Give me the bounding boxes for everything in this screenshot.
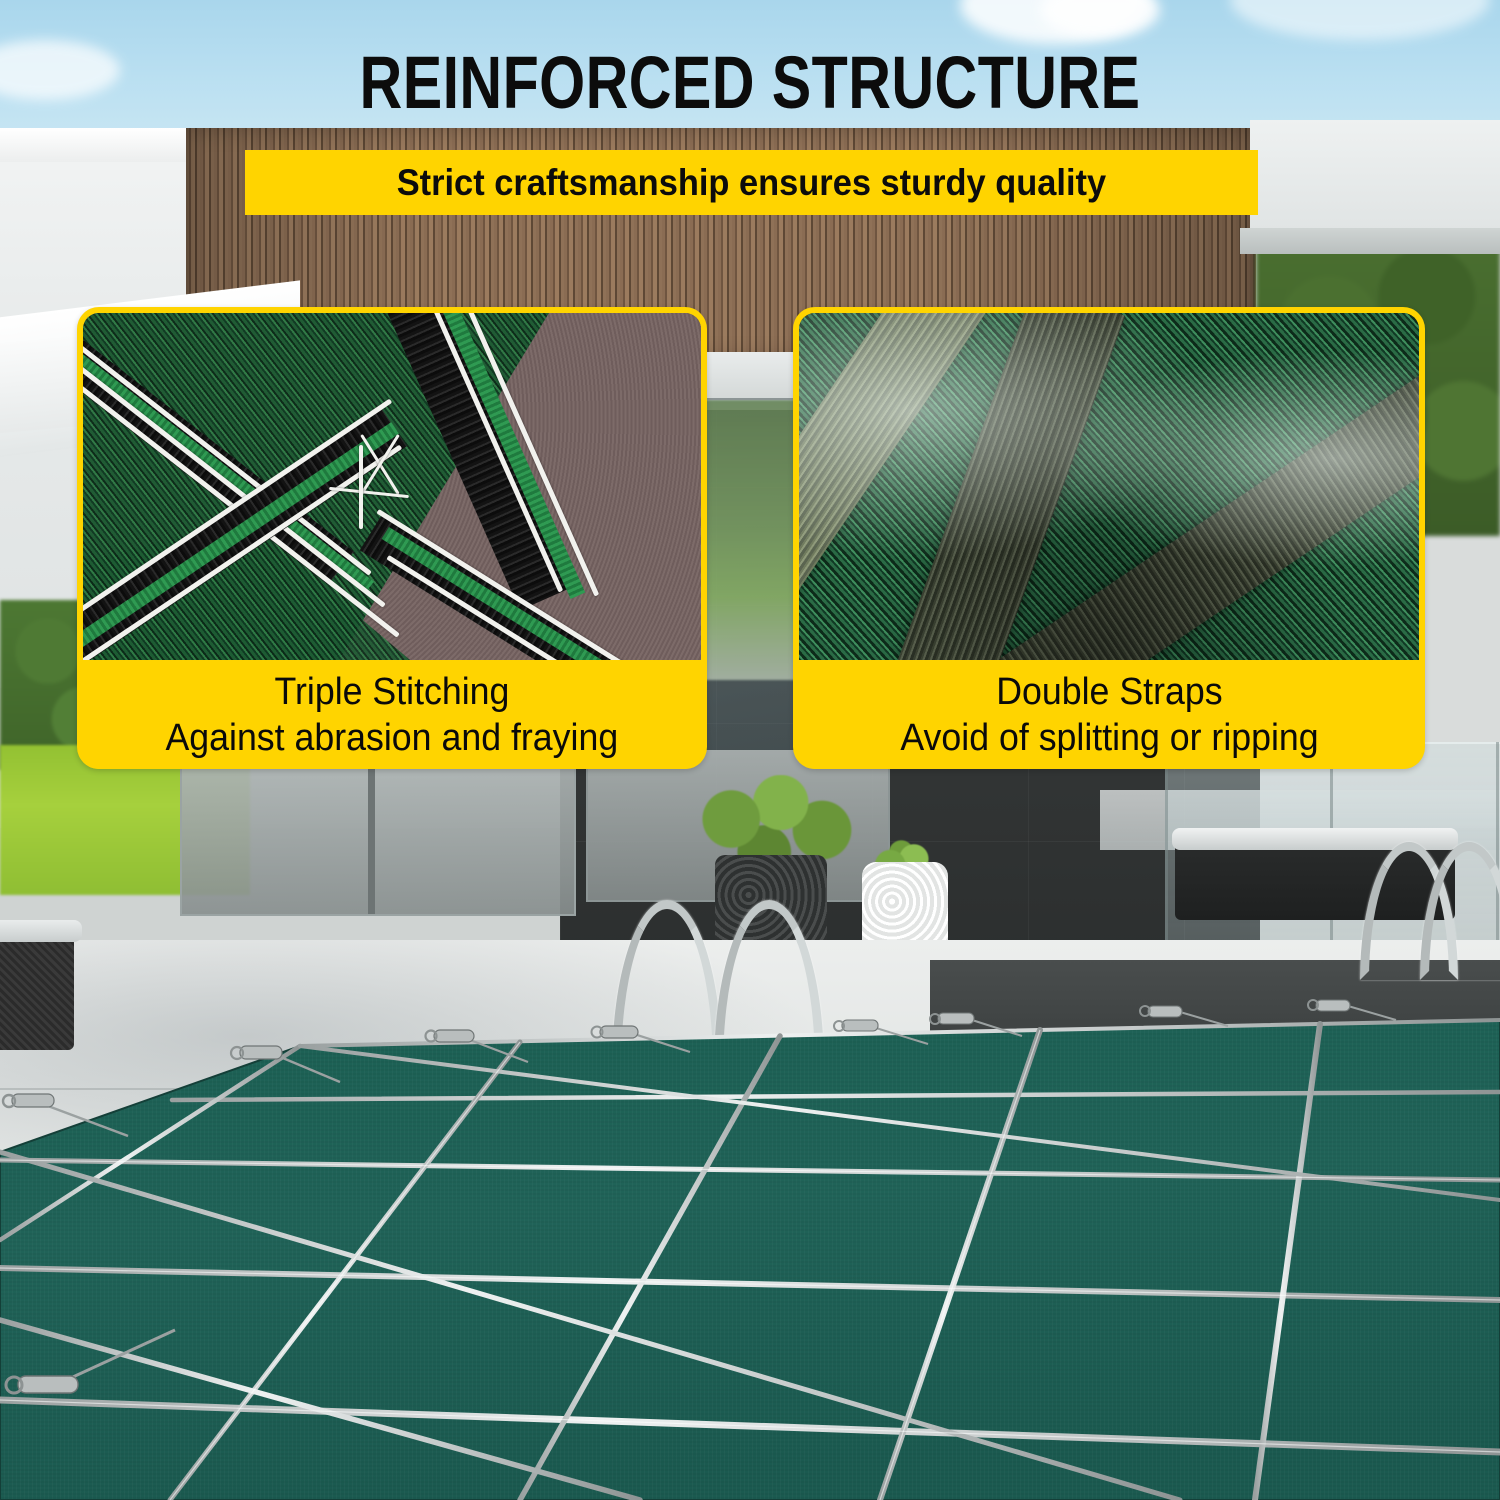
photo-double-straps-art [799,313,1419,660]
feature-card-double-straps: Double Straps Avoid of splitting or ripp… [793,307,1425,769]
product-feature-image: REINFORCED STRUCTURE Strict craftsmanshi… [0,0,1500,1500]
subtitle-banner-text: Strict craftsmanship ensures sturdy qual… [397,162,1106,204]
caption-line-1: Double Straps [996,670,1222,714]
paving-joint [1180,1030,1500,1032]
railing-post [1165,742,1168,972]
cloud [1230,0,1490,40]
caption-line-1: Triple Stitching [275,670,510,714]
wicker-furniture [0,930,74,1050]
caption-line-2: Avoid of splitting or ripping [900,716,1318,760]
wicker-furniture-cushion [0,920,82,942]
right-roof-band [1250,120,1500,240]
door-reflection-floor [182,758,574,914]
page-title: REINFORCED STRUCTURE [150,46,1350,120]
photo-bartack-stitch [359,445,363,529]
feature-caption-double-straps: Double Straps Avoid of splitting or ripp… [799,660,1419,769]
caption-line-2: Against abrasion and fraying [166,716,619,760]
feature-card-triple-stitching: Triple Stitching Against abrasion and fr… [77,307,707,769]
photo-triple-stitching-art [83,313,701,660]
roof-edge [1240,228,1500,254]
feature-photo-triple-stitching [83,313,701,660]
cloud [0,40,120,100]
subtitle-banner: Strict craftsmanship ensures sturdy qual… [245,150,1258,215]
feature-photo-double-straps [799,313,1419,660]
paving-joint [0,1088,400,1090]
feature-caption-triple-stitching: Triple Stitching Against abrasion and fr… [83,660,701,769]
photo-lighting-overlay [799,313,1419,660]
